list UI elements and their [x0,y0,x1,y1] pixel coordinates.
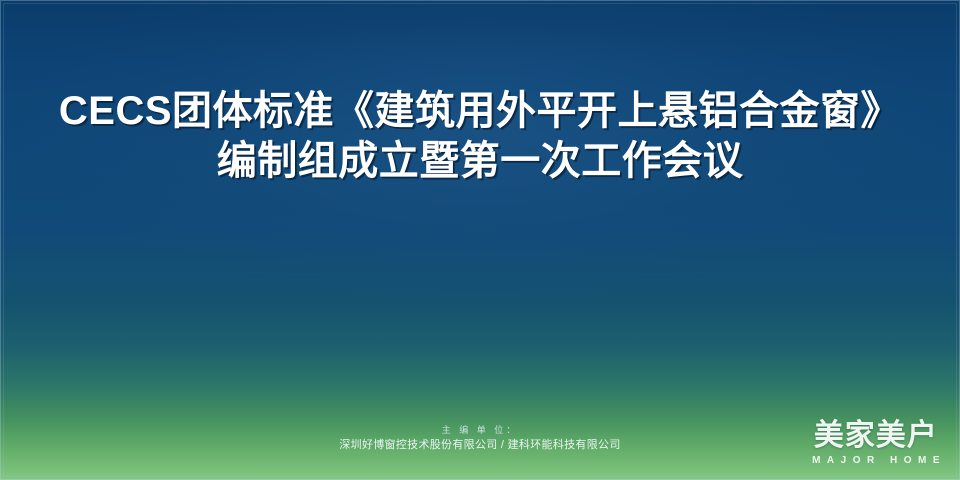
brand-logo: 美家美户 MAJOR HOME [806,420,946,466]
presentation-slide: CECS团体标准《建筑用外平开上悬铝合金窗》 编制组成立暨第一次工作会议 主 编… [0,0,960,480]
slide-title-line-2: 编制组成立暨第一次工作会议 [0,136,960,186]
brand-logo-english: MAJOR HOME [806,456,946,466]
brand-logo-chinese: 美家美户 [806,420,946,452]
background-glow [0,0,960,480]
slide-title: CECS团体标准《建筑用外平开上悬铝合金窗》 编制组成立暨第一次工作会议 [0,86,960,186]
slide-title-line-1: CECS团体标准《建筑用外平开上悬铝合金窗》 [0,86,960,136]
